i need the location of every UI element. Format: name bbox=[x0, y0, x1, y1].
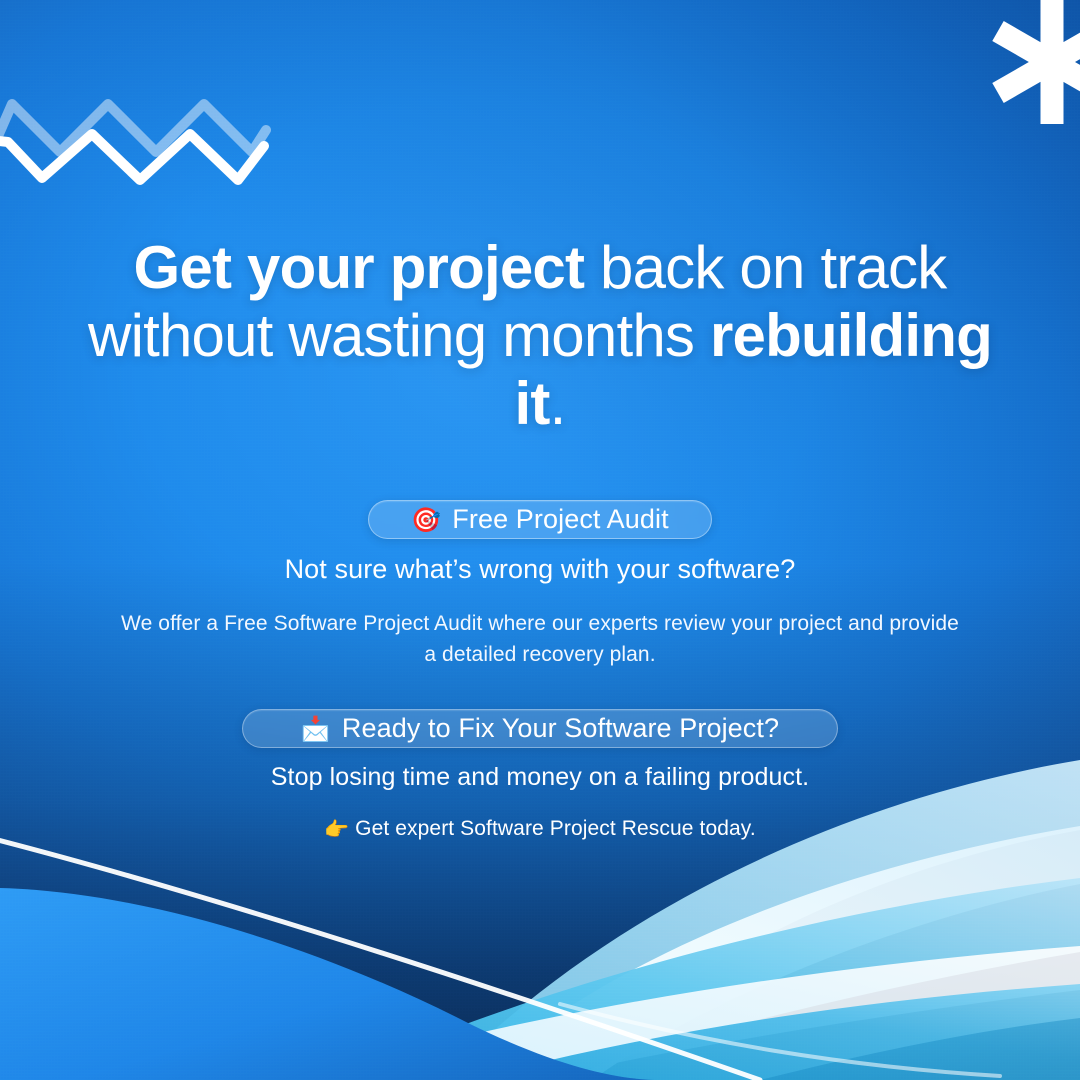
promo-poster: Get your project back on track without w… bbox=[0, 0, 1080, 1080]
pointing-right-hand-icon: 👉 bbox=[324, 815, 349, 845]
page-title: Get your project back on track without w… bbox=[0, 234, 1080, 438]
cta-line-one: Stop losing time and money on a failing … bbox=[0, 761, 1080, 794]
cta-text: Get expert Software Project Rescue today… bbox=[349, 817, 756, 840]
badge-free-project-audit[interactable]: 🎯 Free Project Audit bbox=[368, 500, 712, 539]
headline-bold-lead: Get your project bbox=[134, 234, 585, 301]
badge-ready-label: Ready to Fix Your Software Project? bbox=[342, 713, 779, 744]
badge-audit-label: Free Project Audit bbox=[452, 504, 668, 535]
headline-period: . bbox=[550, 370, 566, 437]
dart-target-icon: 🎯 bbox=[411, 509, 441, 533]
cta-line-two: 👉 Get expert Software Project Rescue tod… bbox=[0, 814, 1080, 844]
audit-paragraph: We offer a Free Software Project Audit w… bbox=[0, 608, 1080, 670]
badge-ready-to-fix[interactable]: 📩 Ready to Fix Your Software Project? bbox=[242, 709, 838, 748]
poster-content: Get your project back on track without w… bbox=[0, 0, 1080, 1080]
envelope-incoming-icon: 📩 bbox=[301, 718, 331, 742]
audit-subtitle: Not sure what’s wrong with your software… bbox=[0, 552, 1080, 586]
